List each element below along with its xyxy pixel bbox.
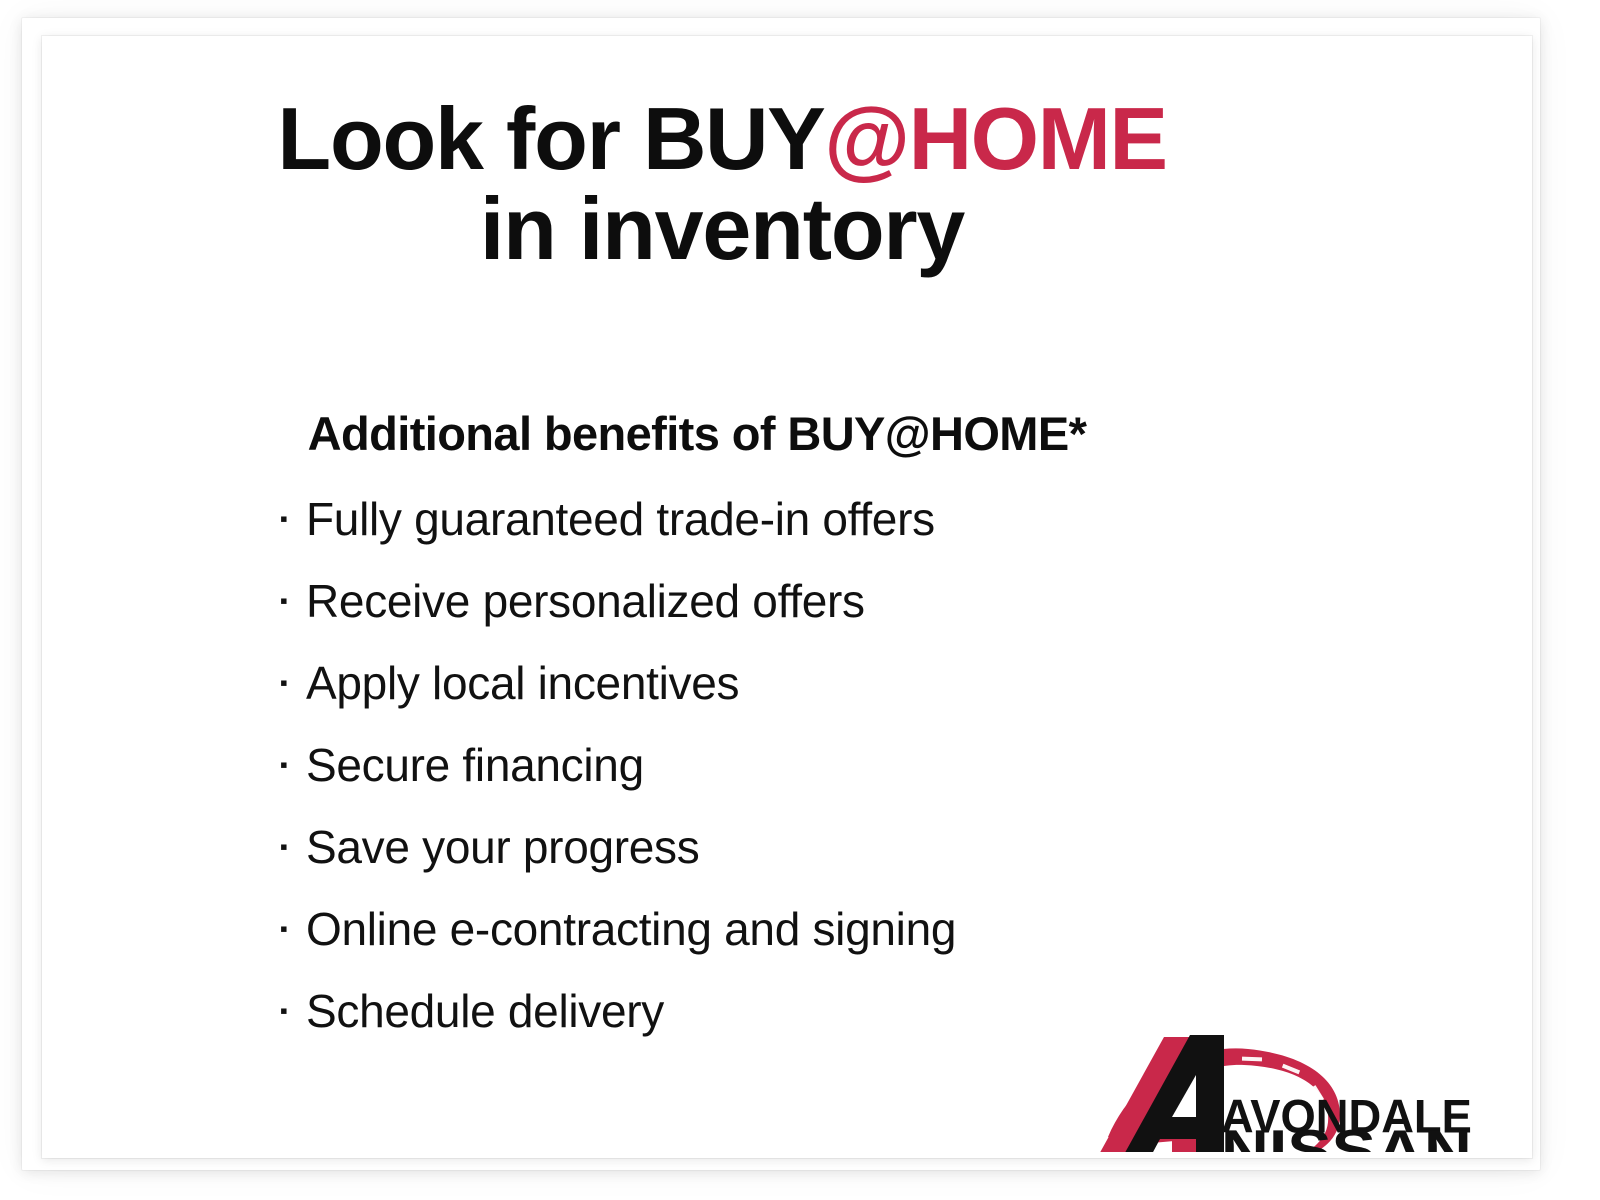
avondale-a-road-logo-icon: AVONDALE NISSAN [1072,1019,1472,1152]
list-item-label: Secure financing [306,738,644,792]
list-item-label: Receive personalized offers [306,574,865,628]
subheading: Additional benefits of BUY@HOME* [52,406,1342,461]
list-item-label: Online e-contracting and signing [306,902,956,956]
slide-page: Look for BUY@HOME in inventory Additiona… [0,0,1600,1200]
list-item: ▪ Receive personalized offers [280,574,956,656]
list-item-label: Save your progress [306,820,699,874]
square-bullet-icon: ▪ [280,918,306,940]
square-bullet-icon: ▪ [280,672,306,694]
slide-canvas: Look for BUY@HOME in inventory Additiona… [52,44,1524,1152]
list-item-label: Fully guaranteed trade-in offers [306,492,935,546]
square-bullet-icon: ▪ [280,508,306,530]
list-item-label: Apply local incentives [306,656,739,710]
square-bullet-icon: ▪ [280,836,306,858]
benefits-list: ▪ Fully guaranteed trade-in offers ▪ Rec… [280,492,956,1066]
headline-strong-part: BUY [643,89,824,188]
headline-line-2: in inventory [52,184,1392,274]
list-item: ▪ Online e-contracting and signing [280,902,956,984]
list-item: ▪ Fully guaranteed trade-in offers [280,492,956,574]
list-item-label: Schedule delivery [306,984,664,1038]
square-bullet-icon: ▪ [280,754,306,776]
logo-wordmark-line2: NISSAN [1221,1120,1472,1152]
headline-line-1: Look for BUY@HOME [52,94,1392,184]
list-item: ▪ Schedule delivery [280,984,956,1066]
headline-light-part: Look for [277,89,643,188]
dealer-logo: AVONDALE NISSAN [1072,1019,1472,1152]
square-bullet-icon: ▪ [280,1000,306,1022]
square-bullet-icon: ▪ [280,590,306,612]
list-item: ▪ Secure financing [280,738,956,820]
list-item: ▪ Save your progress [280,820,956,902]
page-title: Look for BUY@HOME in inventory [52,94,1392,274]
headline-accent-part: @HOME [824,89,1166,188]
list-item: ▪ Apply local incentives [280,656,956,738]
